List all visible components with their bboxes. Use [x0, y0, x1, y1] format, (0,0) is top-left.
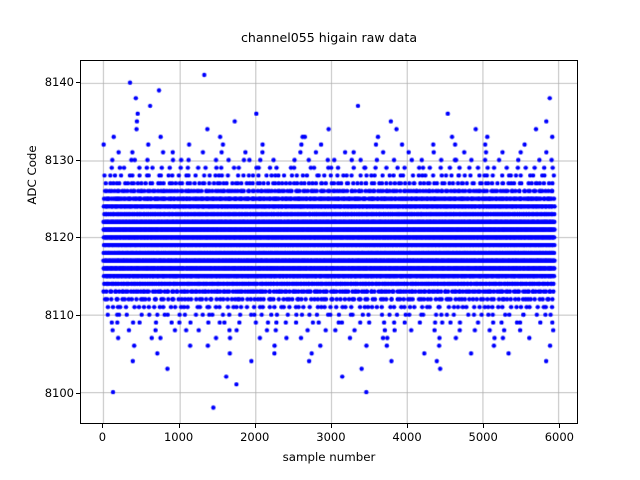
x-tick-label: 3000 [316, 430, 345, 444]
y-tick-label: 8140 [45, 75, 74, 89]
y-tick-label: 8110 [45, 308, 74, 322]
x-tick-mark [483, 424, 484, 428]
x-tick-label: 1000 [164, 430, 193, 444]
x-tick-mark [407, 424, 408, 428]
y-tick-label: 8120 [45, 230, 74, 244]
y-tick-mark [76, 393, 80, 394]
x-tick-label: 2000 [240, 430, 269, 444]
y-tick-label: 8130 [45, 153, 74, 167]
x-tick-mark [559, 424, 560, 428]
x-tick-label: 0 [99, 430, 106, 444]
y-tick-mark [76, 237, 80, 238]
x-tick-mark [255, 424, 256, 428]
y-axis-label: ADC Code [25, 115, 39, 235]
page-title: channel055 higain raw data [80, 30, 578, 46]
x-tick-mark [179, 424, 180, 428]
scatter-data-points [81, 61, 577, 423]
y-tick-mark [76, 315, 80, 316]
y-tick-mark [76, 160, 80, 161]
matplotlib-figure: channel055 higain raw data 8100811081208… [0, 0, 640, 480]
x-tick-label: 5000 [469, 430, 498, 444]
x-tick-label: 6000 [545, 430, 574, 444]
x-axis-label: sample number [80, 450, 578, 464]
y-tick-mark [76, 82, 80, 83]
y-tick-label: 8100 [45, 386, 74, 400]
x-tick-mark [331, 424, 332, 428]
plot-axes [80, 60, 578, 424]
x-tick-mark [102, 424, 103, 428]
x-tick-label: 4000 [392, 430, 421, 444]
